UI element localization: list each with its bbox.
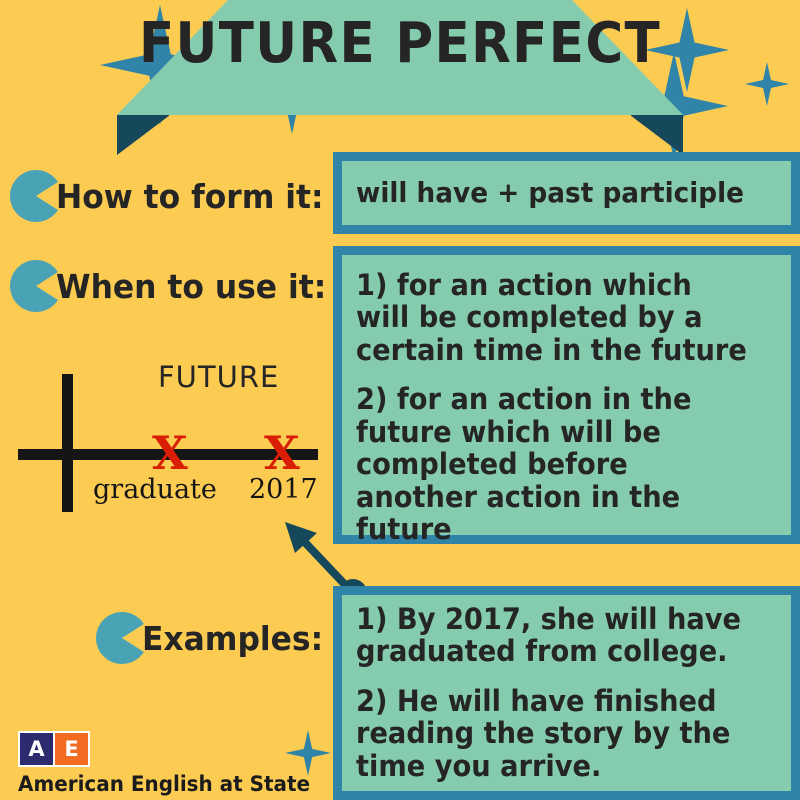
pacman-bullet-icon (10, 170, 62, 222)
banner-fold-left (117, 115, 169, 155)
logo-letter-e: E (55, 733, 88, 765)
form-box: will have + past participle (333, 152, 800, 234)
logo: A E American English at State (18, 731, 325, 796)
timeline-caption-graduate: graduate (93, 474, 217, 505)
title-banner: FUTURE PERFECT (0, 0, 800, 140)
form-box-inner: will have + past participle (342, 161, 791, 225)
section-label-text: How to form it: (56, 177, 324, 216)
timeline-marker-x-2017: X (264, 430, 300, 476)
page-title: FUTURE PERFECT (32, 8, 768, 80)
logo-letter-boxes: A E (18, 731, 90, 767)
section-label-when-to-use: When to use it: (10, 258, 340, 314)
poster-canvas: FUTURE PERFECT How to form it: will have… (0, 0, 800, 800)
usage-rule-2: 2) for an action in the future which wil… (356, 383, 752, 545)
form-rule-line: will have + past participle (356, 177, 752, 208)
usage-box: 1) for an action which will be completed… (333, 246, 800, 544)
section-label-text: Examples: (142, 619, 323, 658)
usage-rule-1: 1) for an action which will be completed… (356, 269, 752, 366)
pacman-bullet-icon (10, 260, 62, 312)
example-2: 2) He will have finished reading the sto… (356, 685, 752, 782)
timeline-vertical-axis (62, 374, 73, 512)
logo-letter-a: A (20, 733, 55, 765)
section-label-examples: Examples: (96, 610, 333, 666)
usage-box-inner: 1) for an action which will be completed… (342, 255, 791, 535)
banner-fold-right (631, 115, 683, 155)
section-label-text: When to use it: (56, 267, 326, 306)
examples-box: 1) By 2017, she will have graduated from… (333, 586, 800, 800)
example-1: 1) By 2017, she will have graduated from… (356, 603, 752, 668)
timeline-axis-label: FUTURE (158, 360, 279, 394)
section-label-how-to-form: How to form it: (10, 168, 338, 224)
logo-caption: American English at State (18, 772, 310, 796)
timeline-marker-x-graduate: X (152, 430, 188, 476)
timeline-caption-2017: 2017 (249, 474, 318, 505)
examples-box-inner: 1) By 2017, she will have graduated from… (342, 595, 791, 791)
pacman-bullet-icon (96, 612, 148, 664)
